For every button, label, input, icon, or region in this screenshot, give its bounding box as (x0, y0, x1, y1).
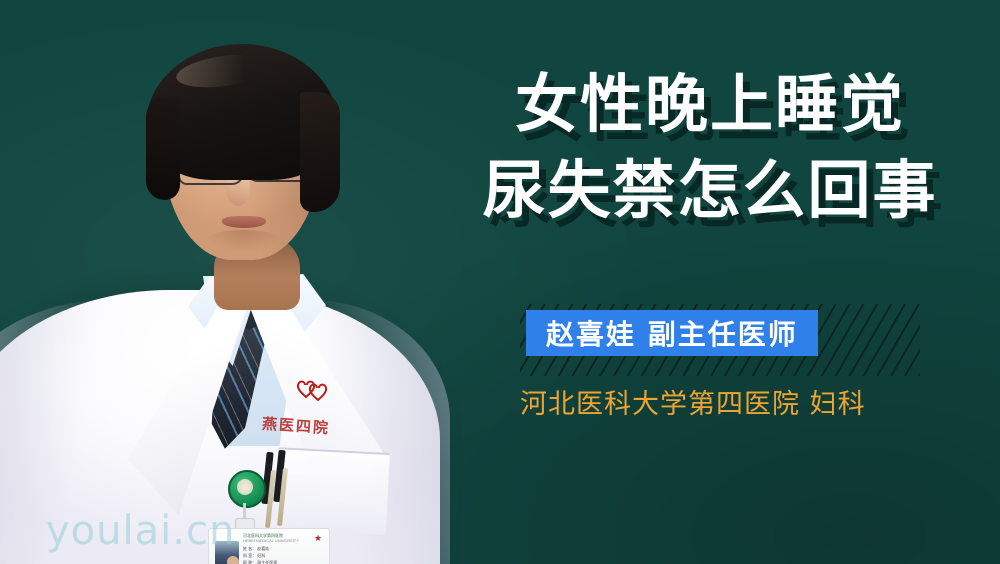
hair-side-left (146, 96, 180, 200)
hair-side-right (300, 92, 340, 212)
coat-chest-pocket (274, 447, 390, 535)
mouth (222, 216, 266, 228)
id-card-field-title: 职 称： 副主任医师 (243, 560, 277, 564)
site-watermark: youlai.cn (46, 508, 235, 554)
doctor-affiliation: 河北医科大学第四医院 妇科 (520, 382, 866, 421)
headline-line-2: 尿失禁怎么回事 (430, 148, 990, 234)
headline-line-1: 女性晚上睡觉 (430, 62, 990, 148)
headline-block: 女性晚上睡觉 尿失禁怎么回事 (430, 62, 990, 234)
chin-shading (204, 230, 284, 252)
doctor-name-badge: 赵喜娃 副主任医师 (526, 310, 818, 356)
doctor-portrait: 燕医四院 河北医科大学第四医院 HEBEI MEDICAL UNIVERSITY… (0, 0, 470, 564)
id-card-photo-head (227, 556, 239, 564)
id-card-field-dept: 科 室： 妇科 (243, 553, 265, 558)
doctor-name-badge-label: 赵喜娃 副主任医师 (546, 313, 798, 353)
party-emblem-icon: ★ (313, 533, 323, 543)
id-card-org-line2: HEBEI MEDICAL UNIVERSITY (243, 538, 299, 543)
double-heart-icon (295, 378, 329, 404)
badge-reel-core (237, 479, 253, 495)
id-card-field-name: 姓 名： 赵喜娃 (243, 546, 269, 551)
thumbnail-canvas: 燕医四院 河北医科大学第四医院 HEBEI MEDICAL UNIVERSITY… (0, 0, 1000, 564)
